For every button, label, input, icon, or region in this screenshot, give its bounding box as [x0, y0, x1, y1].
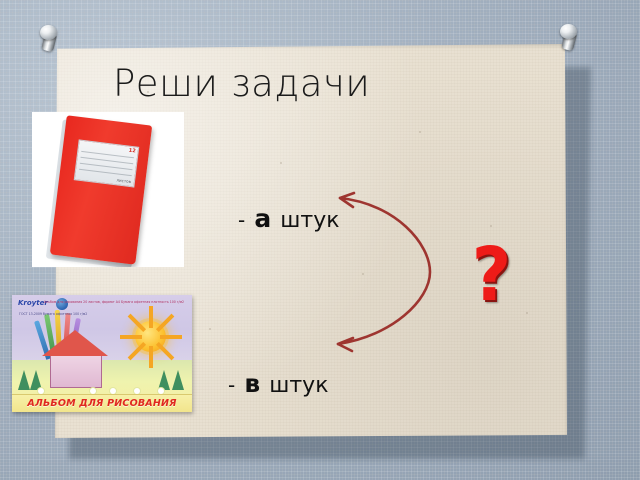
album-left-note: ГОСТ 13-2009 бумага офсетная 100 г/м2	[19, 312, 87, 316]
notebook-label-sub: листов	[116, 177, 131, 184]
notebook-cover	[50, 115, 152, 264]
quantity-letter-a: а	[250, 204, 275, 233]
notebook-label: 12 листов	[74, 139, 140, 187]
quantity-unit-b: штук	[269, 373, 328, 398]
album-house-roof	[42, 330, 108, 356]
quantity-letter-b: в	[240, 369, 264, 398]
quantity-dash-a: -	[238, 208, 245, 232]
pushpin-head	[40, 25, 57, 40]
album-right-note: Альбом для рисования 20 листов, формат А…	[44, 300, 184, 304]
slide-canvas: Реши задачи 12 листов в	[0, 0, 640, 480]
album-tree	[158, 370, 170, 390]
pushpin-head	[560, 24, 577, 39]
page-title: Реши задачи	[113, 62, 370, 105]
pushpin-icon-left	[36, 25, 62, 55]
pushpin-icon-right	[556, 24, 582, 54]
album-banner-text: АЛЬБОМ ДЛЯ РИСОВАНИЯ	[27, 398, 176, 409]
album-tree	[172, 370, 184, 390]
quantity-dash-b: -	[228, 373, 235, 397]
notebook-label-mark: 12	[128, 148, 136, 155]
album-tree	[30, 370, 42, 390]
album-banner: АЛЬБОМ ДЛЯ РИСОВАНИЯ	[12, 394, 192, 412]
album-tree	[18, 370, 30, 390]
album-image: Kroyter ГОСТ 13-2009 бумага офсетная 100…	[12, 295, 192, 412]
album-house	[50, 352, 102, 388]
quantity-line-b: - в штук	[228, 369, 329, 398]
notebook-image: 12 листов	[32, 112, 184, 267]
question-mark: ?	[472, 238, 512, 312]
curved-double-arrow-icon	[318, 188, 458, 353]
album-sun	[135, 321, 166, 352]
